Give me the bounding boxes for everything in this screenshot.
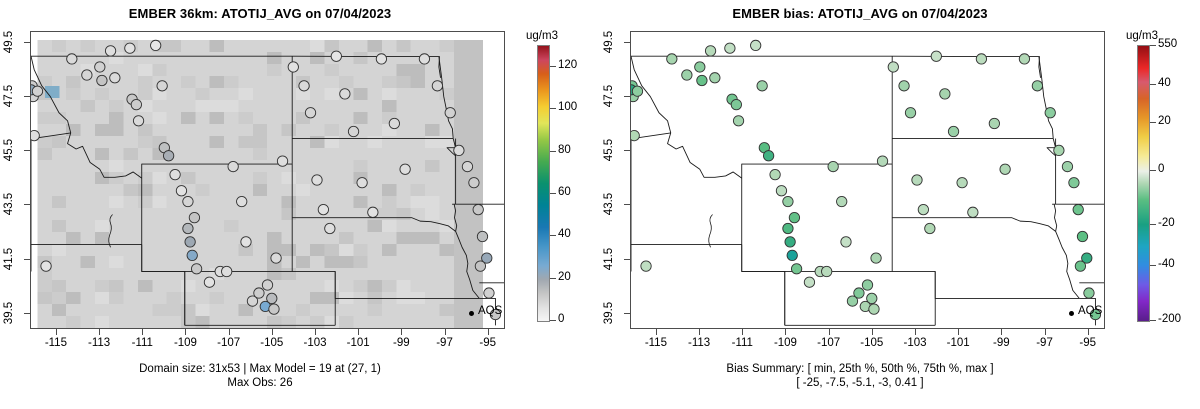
colorbar-label: 40 [1158, 77, 1171, 89]
colorbar-tick [1150, 265, 1156, 266]
x-axis-tick [915, 329, 916, 335]
x-axis-label: -109 [165, 337, 205, 349]
x-axis-label: -115 [636, 337, 676, 349]
colorbar-tick [550, 320, 556, 321]
y-axis-tick [24, 150, 30, 151]
x-axis-tick [872, 329, 873, 335]
x-axis-label: -111 [122, 337, 162, 349]
colorbar-tick [1150, 84, 1156, 85]
x-axis-label: -107 [209, 337, 249, 349]
x-axis-tick [829, 329, 830, 335]
aqs-legend-label: AQS [478, 305, 502, 317]
colorbar-label: -20 [1158, 217, 1175, 229]
x-axis-tick [185, 329, 186, 335]
colorbar-label: 40 [558, 228, 571, 240]
x-axis-tick [656, 329, 657, 335]
x-axis-label: -99 [381, 337, 421, 349]
y-axis-tick [24, 204, 30, 205]
x-axis-label: -115 [36, 337, 76, 349]
observation-markers[interactable] [31, 32, 504, 328]
y-axis-label: 45.5 [2, 130, 16, 170]
x-axis-label: -105 [252, 337, 292, 349]
y-axis-label: 47.5 [2, 76, 16, 116]
x-axis-label: -99 [981, 337, 1021, 349]
y-axis-tick [624, 42, 630, 43]
x-axis-tick [142, 329, 143, 335]
colorbar-tick [1150, 320, 1156, 321]
x-axis-tick [958, 329, 959, 335]
x-axis-label: -105 [852, 337, 892, 349]
colorbar-tick [550, 108, 556, 109]
model-caption-line1: Domain size: 31x53 | Max Model = 19 at (… [0, 362, 520, 376]
x-axis-label: -95 [1068, 337, 1108, 349]
y-axis-label: 43.5 [2, 184, 16, 224]
panel-model-title: EMBER 36km: ATOTIJ_AVG on 07/04/2023 [0, 6, 520, 21]
aqs-legend-dot [1069, 311, 1074, 316]
colorbar-label: -200 [1158, 313, 1181, 325]
model-map-plot[interactable] [30, 31, 505, 329]
bias-caption-line2: [ -25, -7.5, -5.1, -3, 0.41 ] [600, 376, 1120, 390]
x-axis-label: -107 [809, 337, 849, 349]
y-axis-tick [624, 313, 630, 314]
colorbar-tick [550, 193, 556, 194]
y-axis-tick [24, 96, 30, 97]
x-axis-tick [699, 329, 700, 335]
y-axis-label: 45.5 [602, 130, 616, 170]
bias-caption-line1: Bias Summary: [ min, 25th %, 50th %, 75t… [600, 362, 1120, 376]
x-axis-label: -111 [722, 337, 762, 349]
x-axis-tick [358, 329, 359, 335]
x-axis-tick [229, 329, 230, 335]
x-axis-label: -97 [1025, 337, 1065, 349]
x-axis-tick [488, 329, 489, 335]
y-axis-label: 43.5 [602, 184, 616, 224]
y-axis-tick [624, 96, 630, 97]
panel-bias-title: EMBER bias: ATOTIJ_AVG on 07/04/2023 [600, 6, 1120, 21]
colorbar-label: 20 [558, 271, 571, 283]
bias-colorbar [1137, 45, 1150, 322]
x-axis-tick [315, 329, 316, 335]
colorbar-tick [550, 278, 556, 279]
x-axis-label: -109 [765, 337, 805, 349]
colorbar-label: -40 [1158, 258, 1175, 270]
x-axis-label: -101 [938, 337, 978, 349]
colorbar-label: 120 [558, 59, 577, 71]
colorbar-label: 0 [1158, 163, 1164, 175]
bias-map-plot[interactable] [630, 31, 1105, 329]
colorbar-label: 550 [1158, 38, 1177, 50]
y-axis-label: 41.5 [2, 239, 16, 279]
x-axis-label: -97 [425, 337, 465, 349]
x-axis-tick [742, 329, 743, 335]
colorbar-tick [1150, 170, 1156, 171]
colorbar-label: 0 [558, 313, 564, 325]
x-axis-label: -95 [468, 337, 508, 349]
x-axis-label: -103 [895, 337, 935, 349]
colorbar-tick [550, 151, 556, 152]
colorbar-tick [550, 235, 556, 236]
colorbar-tick [550, 66, 556, 67]
colorbar-label: 80 [558, 144, 571, 156]
colorbar-label: 60 [558, 186, 571, 198]
panel-model: EMBER 36km: ATOTIJ_AVG on 07/04/2023 -11… [0, 0, 600, 409]
y-axis-tick [624, 259, 630, 260]
y-axis-label: 49.5 [2, 22, 16, 62]
x-axis-label: -113 [79, 337, 119, 349]
colorbar-label: 20 [1158, 115, 1171, 127]
y-axis-label: 39.5 [602, 293, 616, 333]
y-axis-tick [24, 259, 30, 260]
x-axis-tick [56, 329, 57, 335]
y-axis-label: 39.5 [2, 293, 16, 333]
y-axis-tick [624, 204, 630, 205]
x-axis-label: -101 [338, 337, 378, 349]
x-axis-label: -103 [295, 337, 335, 349]
bias-colorbar-unit: ug/m3 [1126, 30, 1158, 42]
y-axis-label: 47.5 [602, 76, 616, 116]
x-axis-label: -113 [679, 337, 719, 349]
y-axis-label: 41.5 [602, 239, 616, 279]
model-colorbar-unit: ug/m3 [526, 30, 558, 42]
x-axis-tick [99, 329, 100, 335]
colorbar-label: 100 [558, 101, 577, 113]
x-axis-tick [1001, 329, 1002, 335]
aqs-legend-label: AQS [1078, 305, 1102, 317]
x-axis-tick [1088, 329, 1089, 335]
x-axis-tick [1045, 329, 1046, 335]
colorbar-tick [1150, 45, 1156, 46]
model-colorbar [537, 45, 550, 322]
colorbar-tick [1150, 122, 1156, 123]
x-axis-tick [272, 329, 273, 335]
y-axis-label: 49.5 [602, 22, 616, 62]
aqs-legend-dot [469, 311, 474, 316]
y-axis-tick [24, 313, 30, 314]
x-axis-tick [445, 329, 446, 335]
colorbar-tick [1150, 224, 1156, 225]
model-caption-line2: Max Obs: 26 [0, 376, 520, 390]
y-axis-tick [24, 42, 30, 43]
x-axis-tick [401, 329, 402, 335]
x-axis-tick [785, 329, 786, 335]
bias-markers[interactable] [631, 32, 1104, 328]
panel-bias: EMBER bias: ATOTIJ_AVG on 07/04/2023 -11… [600, 0, 1200, 409]
y-axis-tick [624, 150, 630, 151]
